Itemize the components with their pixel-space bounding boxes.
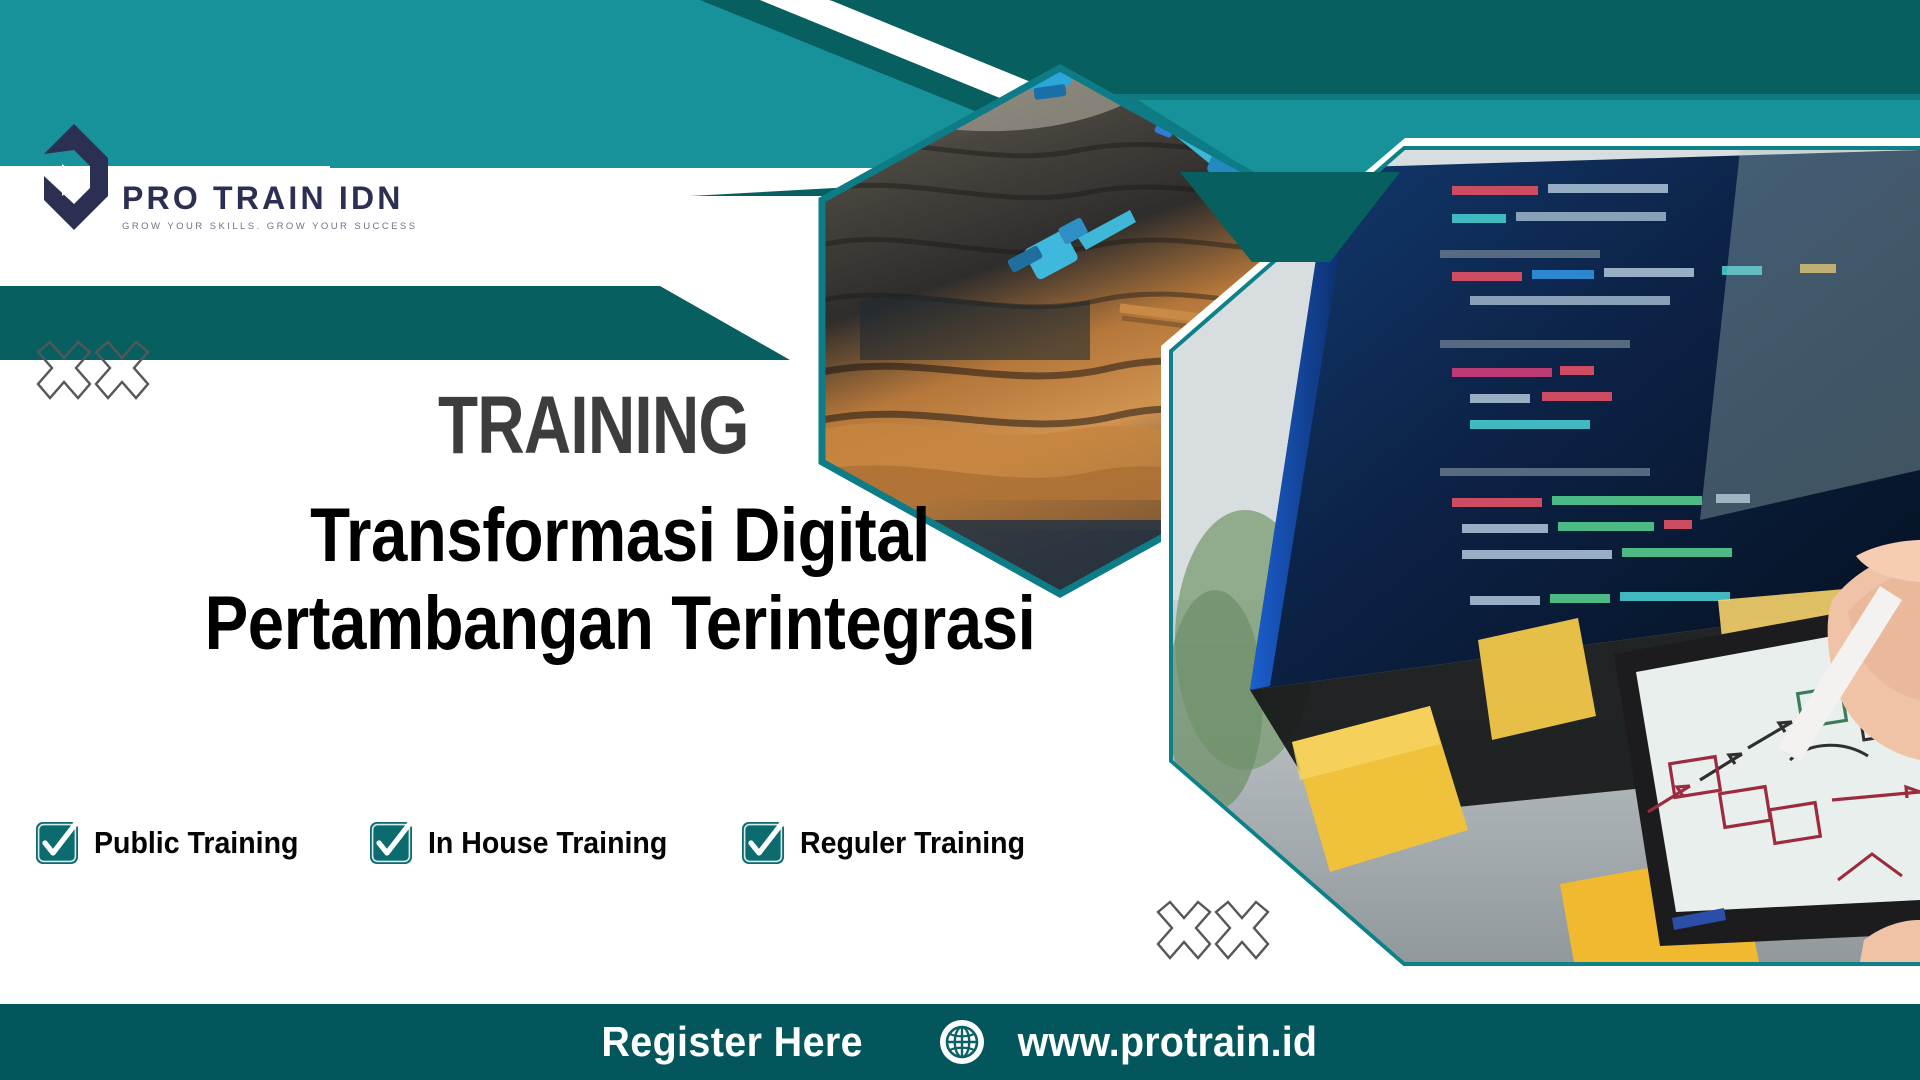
footer-bar: Register Here www.protrain.id [0,1004,1920,1080]
training-type-list: Public Training In House Training Regule… [34,820,1045,866]
kicker-training: TRAINING [438,385,749,467]
checklist-item-public-training[interactable]: Public Training [34,820,316,866]
website-url[interactable]: www.protrain.id [1017,1018,1317,1066]
brand-name: PRO TRAIN IDN [122,182,418,214]
register-here-label[interactable]: Register Here [602,1018,864,1066]
brand-logo: PRO TRAIN IDN GROW YOUR SKILLS. GROW YOU… [34,118,414,238]
protrain-arrow-logo-icon [34,118,112,238]
double-x-outline-icon [1148,896,1276,976]
website-group[interactable]: www.protrain.id [938,1018,1327,1066]
right-photo-clip [1161,138,1920,996]
brand-tagline: GROW YOUR SKILLS. GROW YOUR SUCCESS [122,221,418,232]
checklist-label: Reguler Training [800,825,1025,861]
checklist-item-in-house-training[interactable]: In House Training [368,820,688,866]
title-line-2: Pertambangan Terintegrasi [87,580,1153,668]
page-title: Transformasi Digital Pertambangan Terint… [0,492,1240,668]
double-x-outline-icon [28,336,156,416]
checklist-label: In House Training [428,825,667,861]
poster-canvas: PRO TRAIN IDN GROW YOUR SKILLS. GROW YOU… [0,0,1920,1080]
checked-checkbox-icon[interactable] [368,820,414,866]
checked-checkbox-icon[interactable] [34,820,80,866]
title-line-1: Transformasi Digital [87,492,1153,580]
checked-checkbox-icon[interactable] [740,820,786,866]
checklist-label: Public Training [94,825,298,861]
globe-icon [938,1018,986,1066]
checklist-item-reguler-training[interactable]: Reguler Training [740,820,1045,866]
